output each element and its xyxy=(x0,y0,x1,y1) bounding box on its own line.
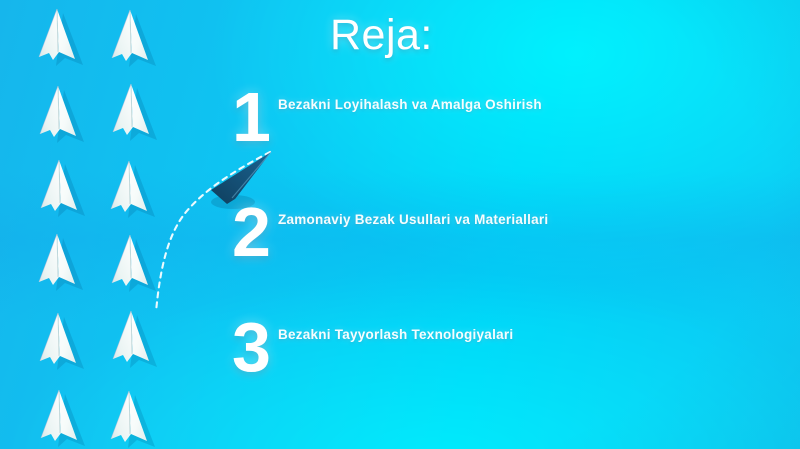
agenda-item-number: 2 xyxy=(232,199,280,266)
paper-plane-icon xyxy=(36,84,80,144)
paper-plane-icon xyxy=(37,388,81,448)
paper-plane-icon xyxy=(108,233,152,293)
paper-plane-icon xyxy=(108,8,152,68)
agenda-item-2: 2 Zamonaviy Bezak Usullari va Materialla… xyxy=(232,199,772,314)
paper-plane-icon xyxy=(35,232,79,292)
agenda-item-label: Zamonaviy Bezak Usullari va Materiallari xyxy=(278,212,548,227)
paper-plane-icon xyxy=(35,7,79,67)
agenda-item-3: 3 Bezakni Tayyorlash Texnologiyalari xyxy=(232,314,772,429)
paper-plane-icon xyxy=(107,159,151,219)
paper-plane-icon xyxy=(109,309,153,369)
agenda-item-1: 1 Bezakni Loyihalash va Amalga Oshirish xyxy=(232,84,772,199)
paper-plane-icon xyxy=(109,82,153,142)
agenda-list: 1 Bezakni Loyihalash va Amalga Oshirish … xyxy=(232,84,772,429)
agenda-item-label: Bezakni Tayyorlash Texnologiyalari xyxy=(278,327,513,342)
agenda-item-number: 3 xyxy=(232,314,280,381)
agenda-item-label: Bezakni Loyihalash va Amalga Oshirish xyxy=(278,97,542,112)
paper-plane-icon xyxy=(36,311,80,371)
paper-plane-icon xyxy=(107,389,151,449)
paper-plane-icon xyxy=(37,158,81,218)
page-title: Reja: xyxy=(330,11,433,60)
presentation-slide: Reja: 1 Bezakni Loyihalash va Amalga Osh… xyxy=(0,0,800,449)
agenda-item-number: 1 xyxy=(232,84,280,151)
